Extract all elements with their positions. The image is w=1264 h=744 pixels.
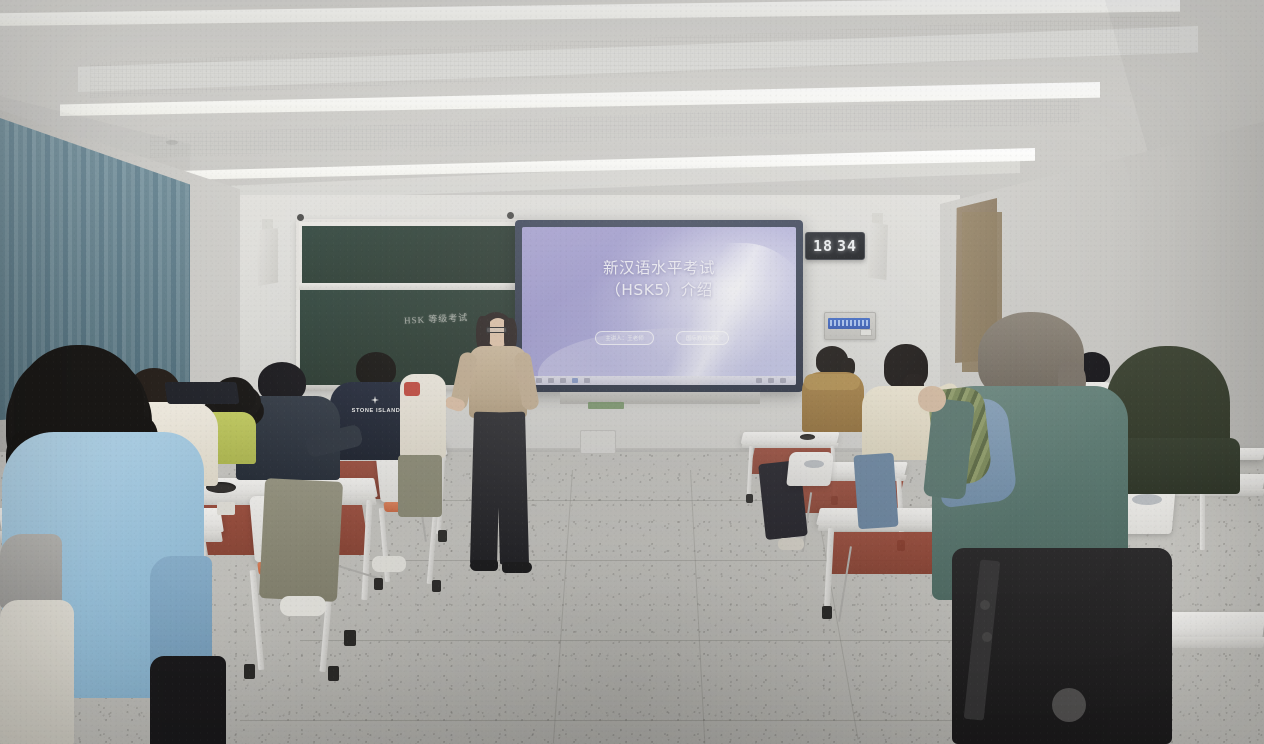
taskbar-tray-icon-3[interactable] — [780, 378, 786, 383]
desk-foot — [344, 630, 356, 646]
smart-display[interactable]: 新汉语水平考试 （HSK5）介绍 主讲人：王老师 国际教育学院 — [515, 220, 803, 392]
av-control-panel[interactable] — [824, 312, 876, 340]
chair-back[interactable] — [786, 452, 834, 486]
student-hair — [356, 352, 396, 386]
student-leg — [398, 455, 442, 517]
floor-seam — [300, 640, 1000, 641]
board-hinge-left — [297, 214, 304, 221]
student-shoe — [778, 538, 804, 550]
wall-outlet[interactable] — [580, 430, 616, 454]
desk-foot — [438, 530, 447, 542]
floor-seam — [240, 720, 1070, 721]
chalkboard-upper-panel — [302, 226, 518, 284]
taskbar-icon-5[interactable] — [584, 378, 590, 383]
desk-foot — [822, 606, 832, 619]
taskbar-icon-3[interactable] — [560, 378, 566, 383]
chair-dish — [1132, 494, 1162, 505]
clock-minutes: 34 — [837, 237, 857, 255]
teacher-shoe-left — [470, 560, 498, 571]
desk-object-red — [404, 382, 420, 396]
student-leg — [259, 478, 343, 602]
display-taskbar[interactable] — [522, 376, 796, 385]
chair-foot — [244, 664, 255, 679]
desk-bag-left — [164, 382, 239, 404]
board-rail — [296, 300, 300, 372]
student-leg-denim — [853, 453, 898, 530]
student-trousers — [150, 656, 226, 744]
taskbar-icon-2[interactable] — [548, 378, 554, 383]
classroom-photo: HSK 等级考试 新汉语水平考试 （HSK5）介绍 主讲人：王老师 国际教育学院 — [0, 0, 1264, 744]
teacher-leg-right — [496, 412, 529, 565]
chair-foot — [432, 580, 441, 592]
desk-grommet — [800, 434, 815, 440]
control-panel-button[interactable] — [860, 329, 872, 336]
slide-title: 新汉语水平考试 （HSK5）介绍 — [522, 257, 796, 302]
student-hand — [918, 386, 946, 412]
taskbar-icon-1[interactable] — [536, 378, 542, 383]
wall-speaker-right — [868, 222, 888, 280]
slide-pill-2: 国际教育学院 — [676, 331, 729, 345]
student-shoe — [372, 556, 406, 572]
digital-wall-clock: 18 34 — [805, 232, 865, 260]
student-shoe — [280, 596, 326, 616]
control-panel-lcd-text — [830, 320, 868, 326]
chalkboard-divider — [299, 283, 519, 290]
jacket-stud — [980, 600, 990, 610]
desk-foot — [746, 494, 753, 503]
control-panel-lcd — [828, 318, 870, 329]
student-collar — [804, 374, 860, 390]
chair-dish — [804, 460, 824, 468]
chair-foot — [374, 578, 383, 590]
display-screen[interactable]: 新汉语水平考试 （HSK5）介绍 主讲人：王老师 国际教育学院 — [522, 227, 796, 385]
display-asset-label — [588, 402, 624, 409]
slide-pill-1: 主讲人：王老师 — [595, 331, 654, 345]
taskbar-tray-icon-1[interactable] — [756, 378, 762, 383]
student-grey-jacket — [0, 534, 62, 608]
desk-leg — [1200, 492, 1205, 550]
teacher-glasses — [486, 327, 507, 333]
slide-title-line-2: （HSK5）介绍 — [522, 279, 796, 301]
clock-hours: 18 — [813, 237, 833, 255]
taskbar-tray-icon-2[interactable] — [768, 378, 774, 383]
student-lower — [0, 600, 74, 744]
jacket-badge — [1052, 688, 1086, 722]
ceiling-sensor — [166, 140, 178, 145]
chair-foot — [328, 666, 339, 681]
wall-speaker-left — [256, 228, 278, 286]
slide-title-line-1: 新汉语水平考试 — [603, 259, 715, 277]
teacher-shoe-right — [502, 562, 532, 573]
desk-paper — [217, 502, 235, 515]
jacket-stud — [982, 632, 992, 642]
slide-pill-row: 主讲人：王老师 国际教育学院 — [522, 331, 796, 345]
board-hinge-right — [507, 212, 514, 219]
taskbar-icon-4[interactable] — [572, 378, 578, 383]
